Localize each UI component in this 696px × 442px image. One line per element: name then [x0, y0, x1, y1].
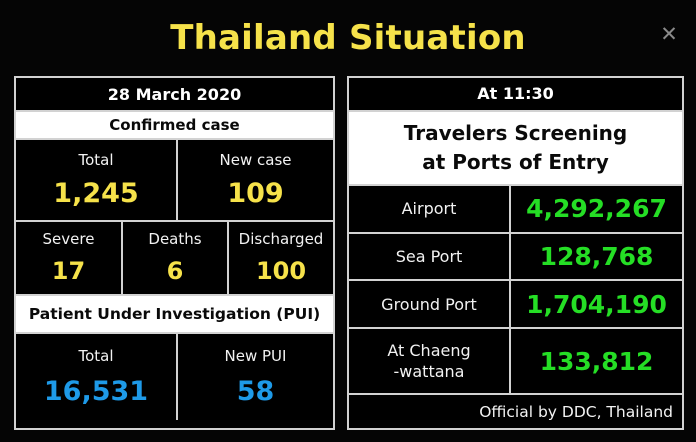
stat-cell-discharged: Discharged 100 [227, 222, 333, 294]
confirmed-case-header: Confirmed case [16, 110, 333, 138]
pui-stats-row: Total 16,531 New PUI 58 [16, 332, 333, 420]
confirmed-stats-row: Total 1,245 New case 109 [16, 138, 333, 220]
close-button[interactable]: ✕ [656, 21, 682, 47]
port-label: Sea Port [349, 234, 509, 280]
port-row-ground-port: Ground Port 1,704,190 [349, 279, 682, 327]
port-value: 133,812 [509, 329, 682, 393]
stat-cell-total-confirmed: Total 1,245 [16, 140, 176, 220]
port-row-sea-port: Sea Port 128,768 [349, 232, 682, 280]
close-icon: ✕ [660, 24, 678, 45]
stat-value: 16,531 [44, 376, 148, 408]
stat-value: 6 [167, 255, 184, 287]
thailand-situation-dashboard: Thailand Situation ✕ 28 March 2020 Confi… [0, 0, 696, 442]
stat-cell-new-case: New case 109 [176, 140, 333, 220]
screening-title: Travelers Screening at Ports of Entry [349, 110, 682, 184]
source-footer: Official by DDC, Thailand [349, 393, 682, 428]
page-title: Thailand Situation [0, 17, 696, 59]
screening-title-line1: Travelers Screening [404, 119, 627, 148]
stat-label: Severe [43, 230, 95, 248]
stat-value: 58 [237, 376, 275, 408]
stat-label: Total [78, 347, 113, 365]
stat-cell-new-pui: New PUI 58 [176, 334, 333, 420]
stat-cell-deaths: Deaths 6 [121, 222, 227, 294]
stat-value: 109 [227, 178, 283, 210]
time-header: At 11:30 [349, 78, 682, 110]
stat-value: 17 [52, 255, 85, 287]
port-value: 4,292,267 [509, 186, 682, 232]
outcome-stats-row: Severe 17 Deaths 6 Discharged 100 [16, 220, 333, 294]
travelers-screening-panel: At 11:30 Travelers Screening at Ports of… [347, 76, 684, 430]
stat-label: New PUI [225, 347, 287, 365]
port-label: Ground Port [349, 281, 509, 327]
stat-cell-severe: Severe 17 [16, 222, 121, 294]
confirmed-cases-panel: 28 March 2020 Confirmed case Total 1,245… [14, 76, 335, 430]
stat-label: Total [78, 151, 113, 169]
port-row-chaeng-wattana: At Chaeng -wattana 133,812 [349, 327, 682, 393]
stat-label: Discharged [239, 230, 324, 248]
stat-value: 100 [256, 255, 306, 287]
screening-title-line2: at Ports of Entry [422, 148, 608, 177]
port-value: 1,704,190 [509, 281, 682, 327]
port-label: At Chaeng -wattana [349, 329, 509, 393]
port-label-line1: At Chaeng [387, 340, 470, 361]
date-header: 28 March 2020 [16, 78, 333, 110]
port-value: 128,768 [509, 234, 682, 280]
stat-cell-total-pui: Total 16,531 [16, 334, 176, 420]
stat-label: Deaths [148, 230, 201, 248]
pui-header: Patient Under Investigation (PUI) [16, 294, 333, 332]
port-row-airport: Airport 4,292,267 [349, 184, 682, 232]
port-label-line2: -wattana [394, 361, 465, 382]
dashboard-header: Thailand Situation ✕ [0, 0, 696, 76]
stat-value: 1,245 [53, 178, 138, 210]
stat-label: New case [220, 151, 292, 169]
port-label: Airport [349, 186, 509, 232]
